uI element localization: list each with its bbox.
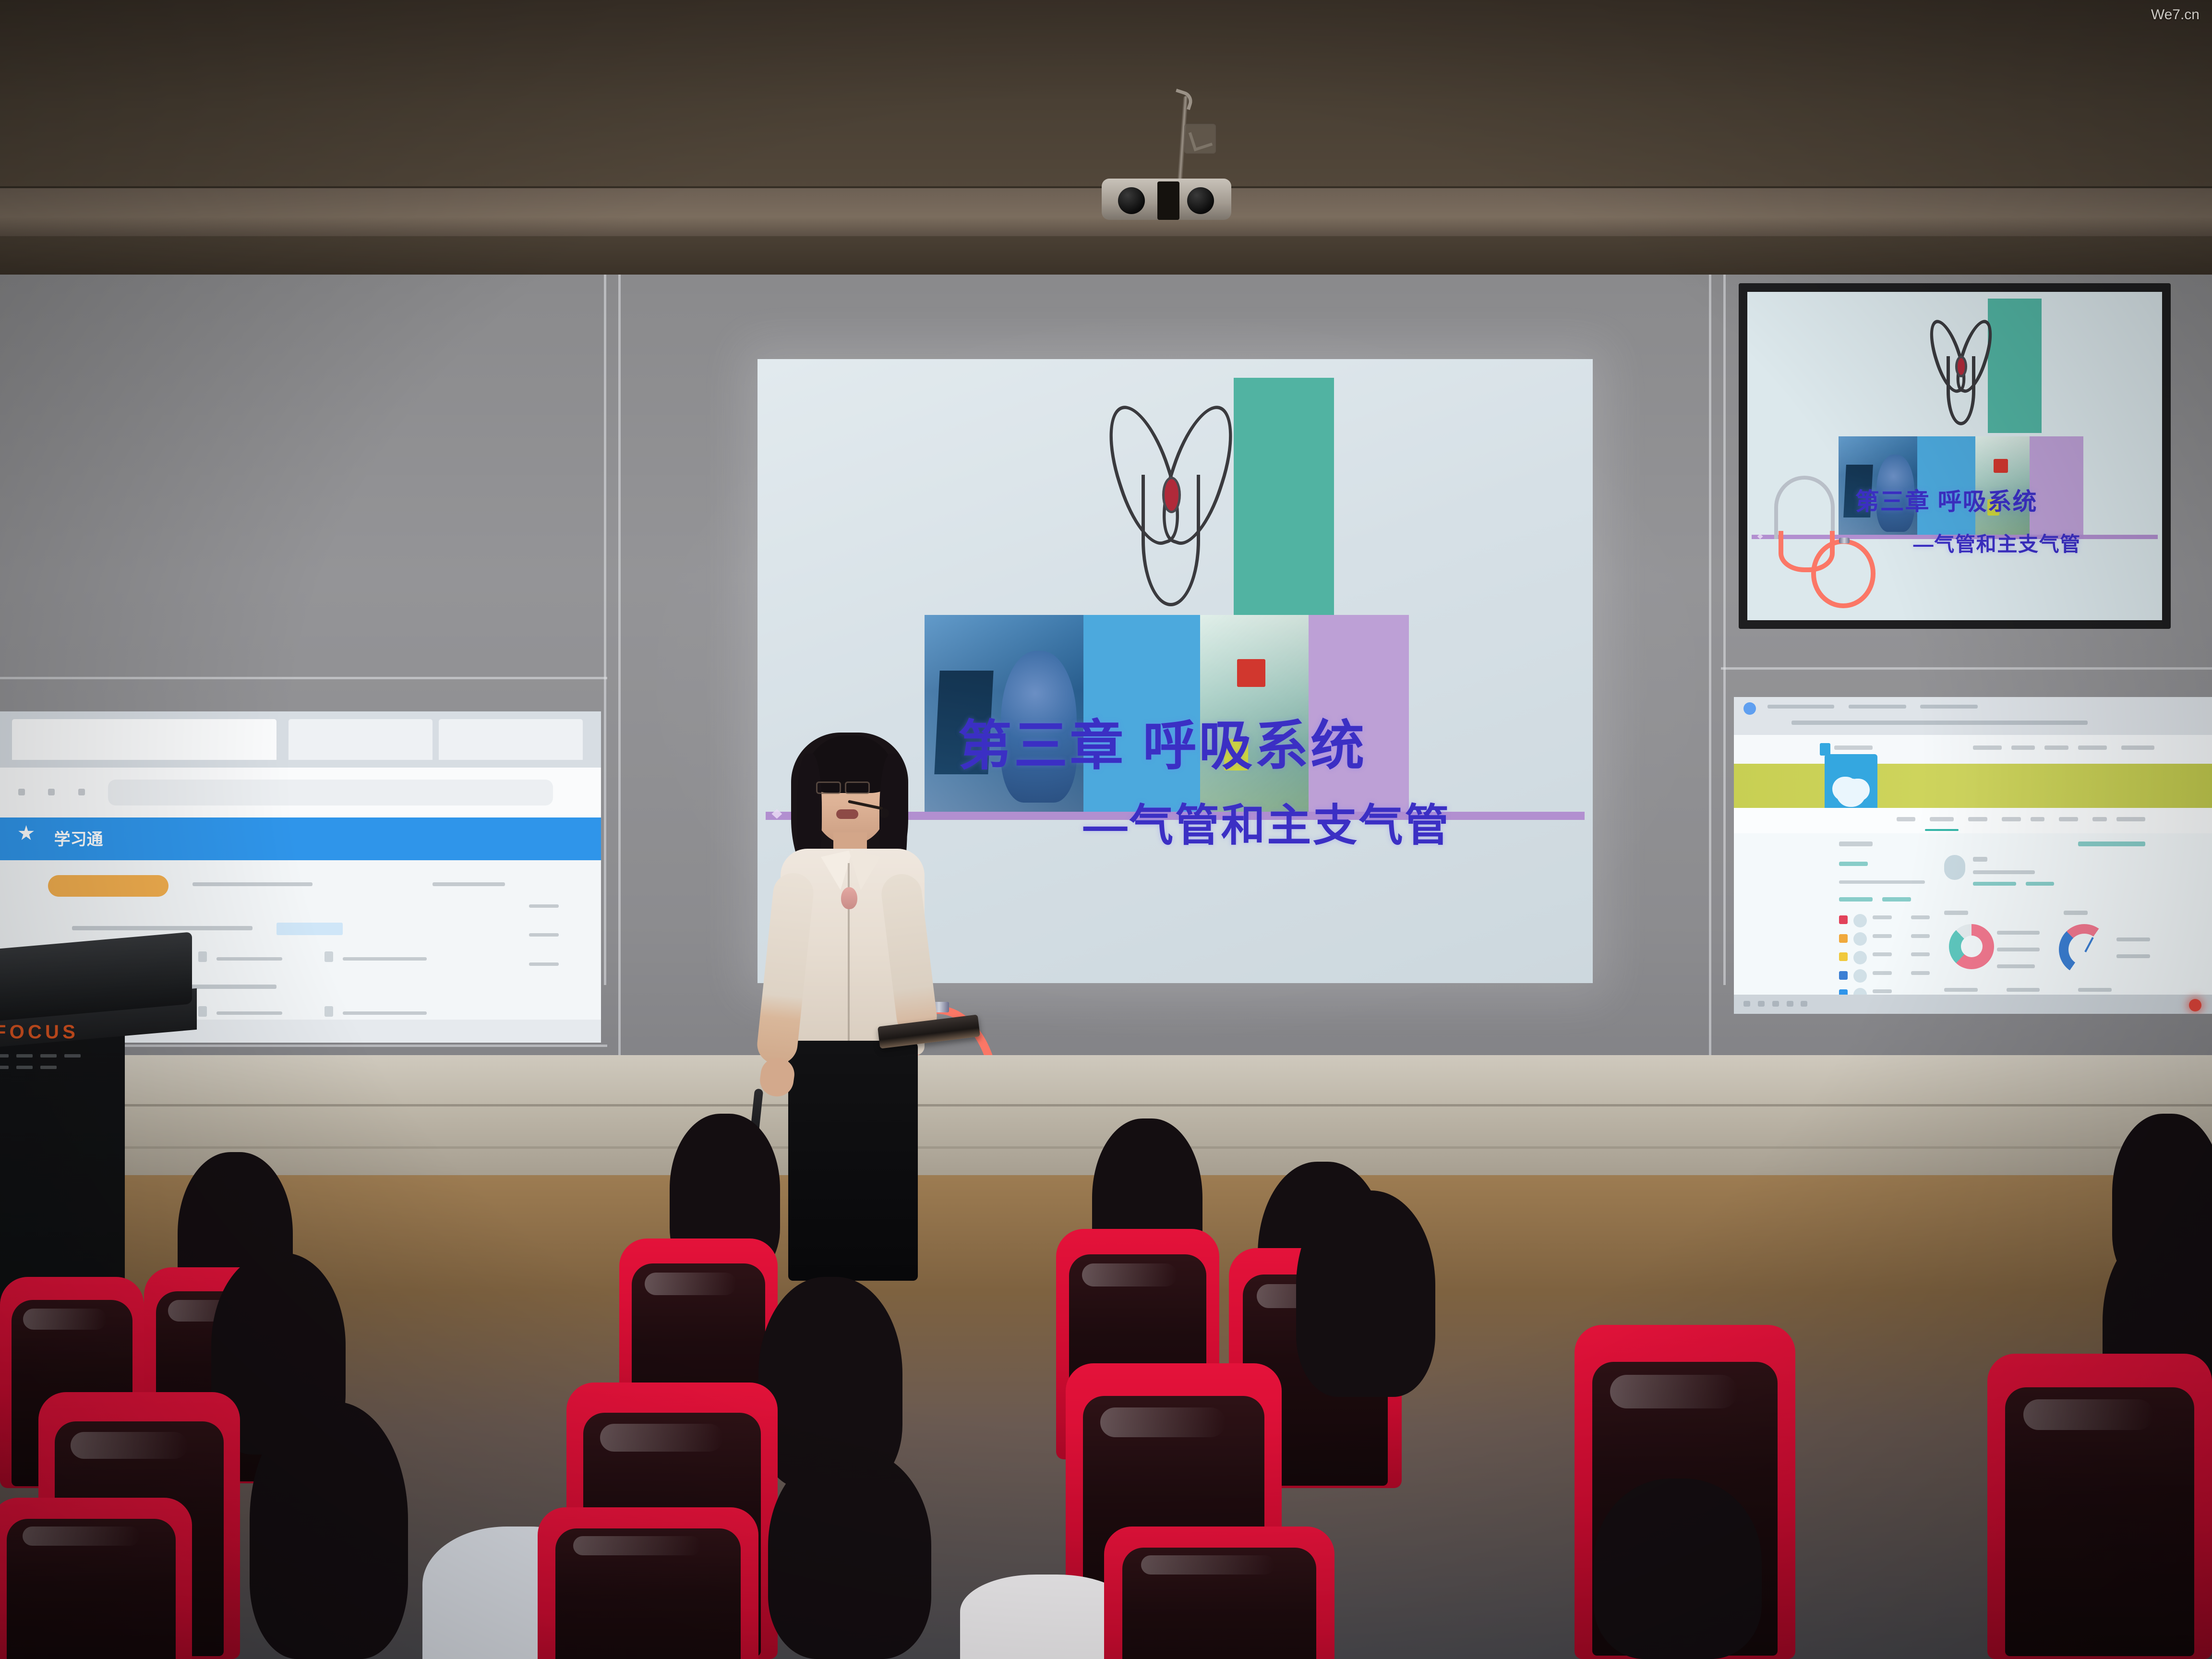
site-nav-bar[interactable] — [1734, 735, 2212, 763]
avatar — [1853, 951, 1867, 964]
nav-item[interactable] — [1973, 745, 2002, 750]
audience-seat[interactable] — [1104, 1527, 1334, 1659]
collage-teal-block — [1234, 378, 1334, 627]
divider — [1839, 880, 1925, 884]
eyeglasses-left-lens — [816, 781, 841, 794]
legend-item — [1997, 964, 2035, 968]
wall-panel-divider — [0, 677, 607, 679]
audience-head — [250, 1402, 408, 1659]
legend-item — [1997, 931, 2040, 935]
sidebar-line — [529, 962, 559, 966]
accent-diamond-icon — [1757, 534, 1763, 539]
control-key[interactable] — [40, 1066, 57, 1069]
stethoscope-earpieces — [1774, 476, 1835, 539]
wall-panel-divider — [618, 275, 621, 1067]
browser-tab[interactable] — [439, 719, 583, 759]
taskbar-icon[interactable] — [1758, 1001, 1765, 1007]
app-name — [1834, 745, 1873, 750]
watermark: We7.cn — [2151, 7, 2200, 23]
site-header-bar: 学习通 — [0, 817, 601, 861]
back-icon[interactable] — [18, 789, 25, 795]
nav-item[interactable] — [2044, 745, 2068, 750]
control-key[interactable] — [0, 1054, 9, 1058]
gauge-chart — [2059, 924, 2110, 975]
user-name — [1973, 857, 1987, 862]
control-key[interactable] — [0, 1066, 9, 1069]
stethoscope-heart-icon — [1117, 403, 1225, 615]
taskbar-icon[interactable] — [1772, 1001, 1779, 1007]
browser-url-bar[interactable] — [0, 768, 601, 817]
ceiling-mount-plate — [1184, 124, 1216, 154]
stethoscope-bell-icon — [1165, 479, 1178, 511]
surgery-chip — [1994, 459, 2008, 473]
camera-lens-right — [1187, 187, 1214, 214]
slide-subtitle: —气管和主支气管 — [1083, 790, 1451, 854]
avatar — [1853, 914, 1867, 927]
nav-item[interactable] — [2121, 745, 2155, 750]
footer-link[interactable] — [1944, 988, 1978, 992]
address-input[interactable] — [1791, 721, 2088, 725]
stethoscope-heart-icon — [1934, 318, 1988, 430]
wall-panel-divider — [1709, 275, 1711, 1067]
audience-seat[interactable] — [0, 1498, 192, 1659]
wall-panel-divider — [604, 275, 606, 985]
seat-highlight — [645, 1273, 736, 1295]
seat-highlight — [71, 1432, 188, 1459]
tab-item[interactable] — [2116, 817, 2145, 821]
ceiling-camera-icon — [1102, 153, 1231, 220]
headset-microphone-icon — [879, 808, 889, 818]
slide-title: 第三章 呼吸系统 — [1855, 482, 2038, 517]
browser-tab-active[interactable] — [12, 719, 276, 759]
seat-highlight — [600, 1424, 722, 1452]
list-item-meta — [216, 957, 283, 961]
rank-badge — [1839, 934, 1848, 943]
rank-name — [1873, 971, 1892, 975]
subsection-link[interactable] — [1839, 862, 1868, 866]
seat-highlight — [573, 1536, 701, 1555]
control-key[interactable] — [16, 1066, 33, 1069]
tab-item[interactable] — [2002, 817, 2021, 821]
lecture-hall-scene: 第三章 呼吸系统 —气管和主支气管 — [0, 0, 2212, 1659]
right-bottom-monitor[interactable] — [1734, 697, 2212, 1014]
chart-title — [2064, 911, 2088, 915]
seat-highlight — [1082, 1263, 1177, 1286]
power-led-icon — [2189, 999, 2201, 1011]
gauge-value — [2116, 954, 2150, 958]
tab-item[interactable] — [2092, 817, 2107, 821]
seat-highlight — [1610, 1375, 1738, 1408]
camera-lens-left — [1118, 187, 1145, 214]
seat-highlight — [23, 1309, 107, 1330]
dashboard-tabs[interactable] — [1734, 808, 2212, 833]
section-title — [1839, 842, 1873, 846]
user-meta — [1973, 870, 2035, 874]
rank-name — [1873, 952, 1892, 956]
collage-teal-block — [1988, 299, 2042, 433]
tab-underline — [1925, 829, 1959, 831]
user-tag — [1973, 882, 2016, 886]
browser-tab[interactable] — [1767, 705, 1834, 709]
ceiling-soffit — [0, 236, 2212, 275]
audience-head — [1296, 1190, 1435, 1397]
control-key[interactable] — [64, 1054, 81, 1058]
avatar — [1853, 932, 1867, 946]
rank-badge — [1839, 915, 1848, 924]
list-item-title — [72, 926, 252, 930]
tab-item[interactable] — [1897, 817, 1916, 821]
taskbar-icon[interactable] — [1787, 1001, 1793, 1007]
audience-head — [768, 1450, 931, 1659]
wainscot-groove — [0, 1104, 2212, 1106]
skirt — [788, 1041, 918, 1281]
star-icon — [18, 825, 35, 842]
wall-panel-divider — [1721, 667, 2212, 670]
list-item-meta — [343, 1011, 427, 1015]
seat-highlight — [1100, 1407, 1226, 1437]
tab-item-active[interactable] — [1930, 817, 1954, 821]
browser-tab[interactable] — [1920, 705, 1978, 709]
avatar — [1944, 855, 1965, 880]
mouth — [836, 809, 858, 819]
tab-item[interactable] — [1968, 817, 1987, 821]
control-key[interactable] — [40, 1054, 57, 1058]
lectern-control-panel[interactable] — [0, 1051, 110, 1080]
tab-item[interactable] — [2059, 817, 2078, 821]
content-line — [192, 882, 313, 886]
browser-tab[interactable] — [289, 719, 433, 759]
rank-score — [1911, 915, 1930, 919]
wall-panel-divider — [1723, 275, 1726, 985]
gauge-label — [2116, 938, 2150, 941]
nav-item[interactable] — [2011, 745, 2035, 750]
site-logo-text: 学习通 — [54, 826, 103, 850]
list-tab[interactable] — [1839, 897, 1873, 902]
rank-name — [1873, 934, 1892, 938]
chrome-icon[interactable] — [1743, 702, 1756, 715]
right-top-monitor[interactable]: 第三章 呼吸系统 —气管和主支气管 — [1739, 283, 2171, 629]
rank-badge — [1839, 952, 1848, 961]
donut-chart — [1949, 924, 1994, 969]
file-icon — [325, 951, 333, 962]
status-chip[interactable] — [276, 923, 343, 936]
browser-chrome[interactable] — [1734, 697, 2212, 735]
taskbar-icon[interactable] — [1801, 1001, 1807, 1007]
legend-item — [1997, 948, 2040, 951]
list-item-meta — [343, 957, 427, 961]
slide-title: 第三章 呼吸系统 — [958, 702, 1367, 780]
lectern-brand-label: FOCUS — [0, 1022, 79, 1043]
dashboard-content — [1734, 833, 2212, 1001]
browser-tab-strip[interactable] — [0, 711, 601, 768]
audience-seat[interactable] — [1987, 1354, 2212, 1659]
audience-head — [1594, 1479, 1762, 1659]
section-link[interactable] — [2078, 842, 2145, 846]
windows-taskbar[interactable] — [1734, 995, 2212, 1014]
audience-seat[interactable] — [538, 1507, 758, 1659]
rank-name — [1873, 989, 1892, 993]
hero-banner — [1734, 764, 2212, 808]
stethoscope-bell-icon — [1958, 358, 1965, 375]
control-key[interactable] — [16, 1054, 33, 1058]
seat-highlight — [2023, 1399, 2153, 1430]
list-item-meta — [216, 1011, 283, 1015]
chart-title — [1944, 911, 1968, 915]
rank-score — [1911, 952, 1930, 956]
slide-subtitle: —气管和主支气管 — [1913, 528, 2081, 557]
sidebar-line — [529, 933, 559, 937]
seat-highlight — [1141, 1555, 1274, 1575]
footer-link[interactable] — [2078, 988, 2112, 992]
sidebar-line — [529, 904, 559, 908]
eyeglasses-right-lens — [845, 781, 870, 794]
address-input[interactable] — [108, 780, 553, 805]
user-tag — [2026, 882, 2055, 886]
rank-name — [1873, 915, 1892, 919]
primary-action-button[interactable] — [48, 875, 168, 897]
browser-tab[interactable] — [1849, 705, 1906, 709]
footer-link[interactable] — [2007, 988, 2040, 992]
start-icon[interactable] — [1743, 1001, 1750, 1007]
content-line — [433, 882, 505, 886]
stethoscope-joint — [1839, 538, 1850, 543]
rank-score — [1911, 934, 1930, 938]
stethoscope-loop — [1811, 539, 1876, 608]
list-tab[interactable] — [1882, 897, 1911, 902]
pendant-necklace — [841, 887, 857, 909]
seat-highlight — [23, 1527, 140, 1546]
rank-badge — [1839, 971, 1848, 980]
nav-item[interactable] — [2078, 745, 2107, 750]
file-icon — [325, 1006, 333, 1017]
rank-score — [1911, 971, 1930, 975]
surgery-chip — [1237, 659, 1265, 687]
reload-icon[interactable] — [78, 789, 85, 795]
right-top-monitor-screen: 第三章 呼吸系统 —气管和主支气管 — [1747, 292, 2162, 620]
app-logo-icon — [1820, 743, 1830, 756]
avatar — [1853, 969, 1867, 983]
forward-icon[interactable] — [48, 789, 55, 795]
camera-gap — [1157, 181, 1179, 220]
tab-item[interactable] — [2031, 817, 2045, 821]
